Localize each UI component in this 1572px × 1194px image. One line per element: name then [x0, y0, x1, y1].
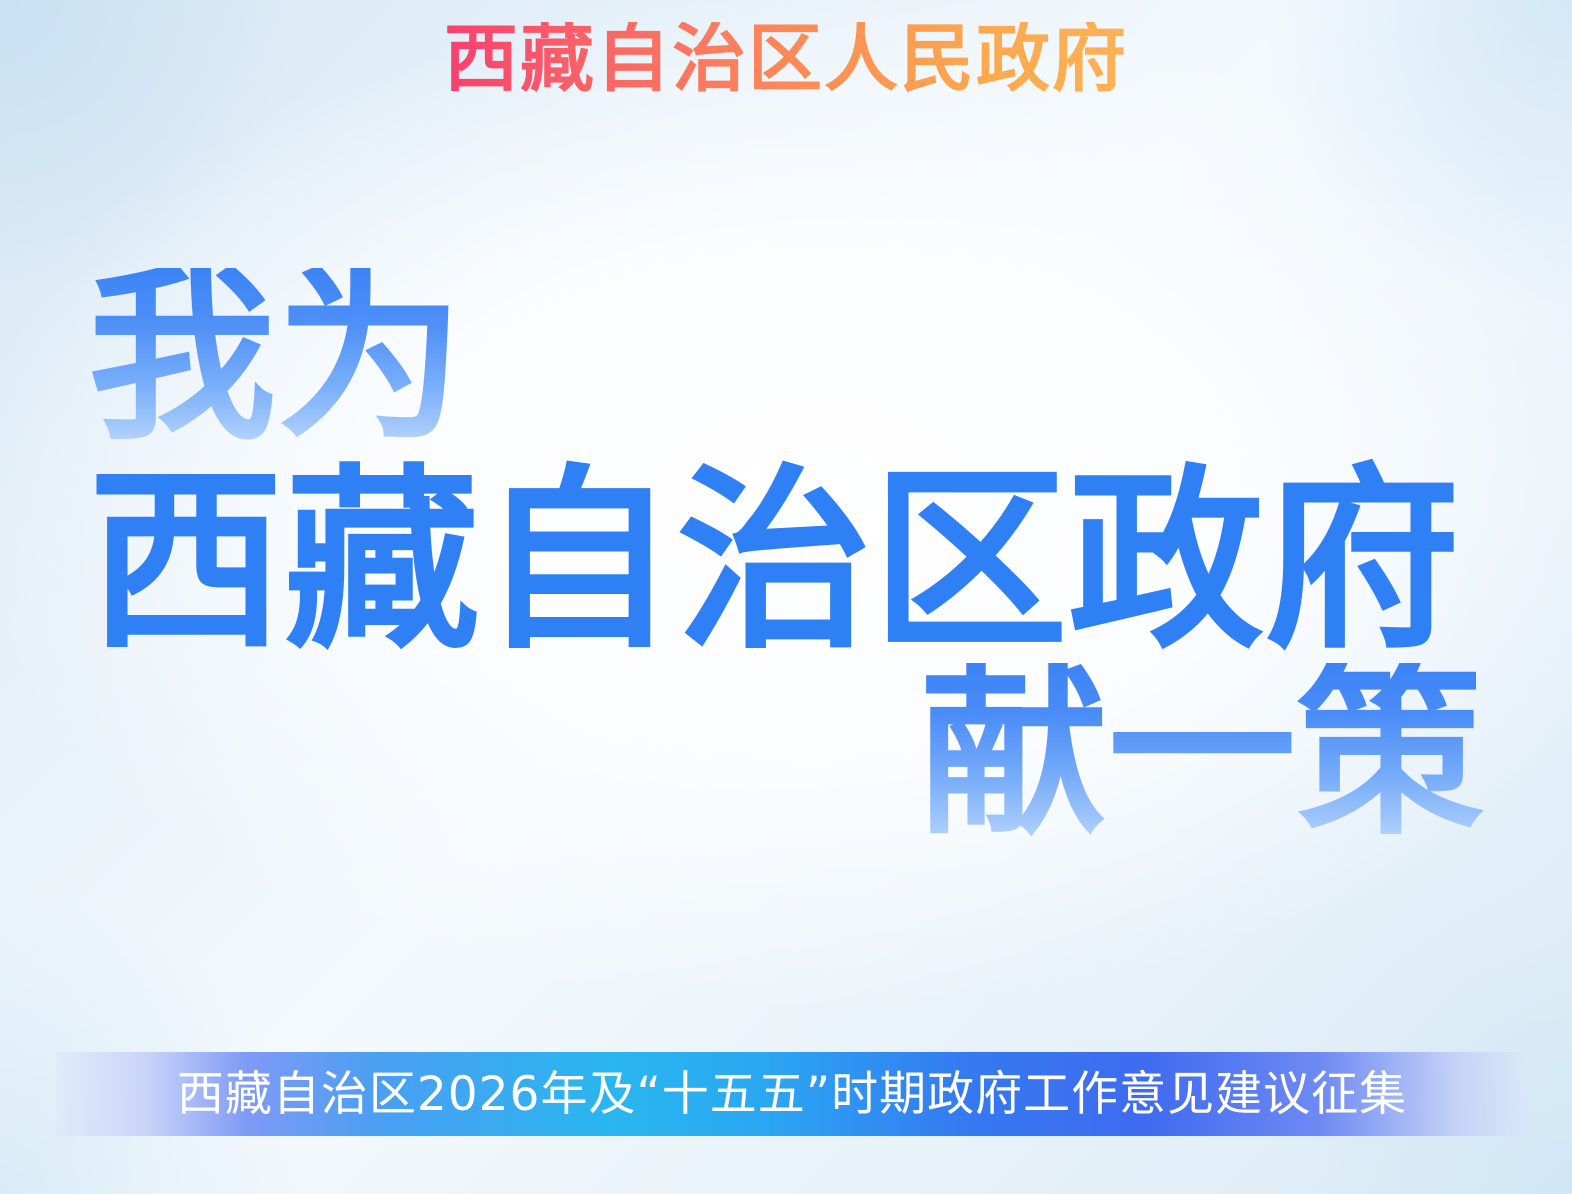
banner-subtitle-text: 西藏自治区2026年及“十五五”时期政府工作意见建议征集: [177, 1071, 1407, 1118]
headline-line-2-text: 西藏自治区政府: [88, 469, 1460, 655]
headline-line-3-text: 献一策: [920, 663, 1484, 842]
poster-root: 西藏自治区人民政府 我为 西藏自治区政府 献一策 西藏自治区2026年及“十五五…: [0, 0, 1572, 1194]
bottom-banner: 西藏自治区2026年及“十五五”时期政府工作意见建议征集: [56, 1052, 1528, 1136]
headline-line-1-text: 我为: [88, 268, 464, 447]
headline-block: 我为 西藏自治区政府 献一策: [88, 268, 1484, 841]
gov-name-text: 西藏自治区人民政府: [444, 22, 1128, 96]
headline-line-3: 献一策: [88, 663, 1484, 842]
gov-header: 西藏自治区人民政府: [0, 22, 1572, 96]
headline-line-2: 西藏自治区政府: [88, 469, 1484, 655]
headline-line-1: 我为: [88, 268, 1484, 447]
